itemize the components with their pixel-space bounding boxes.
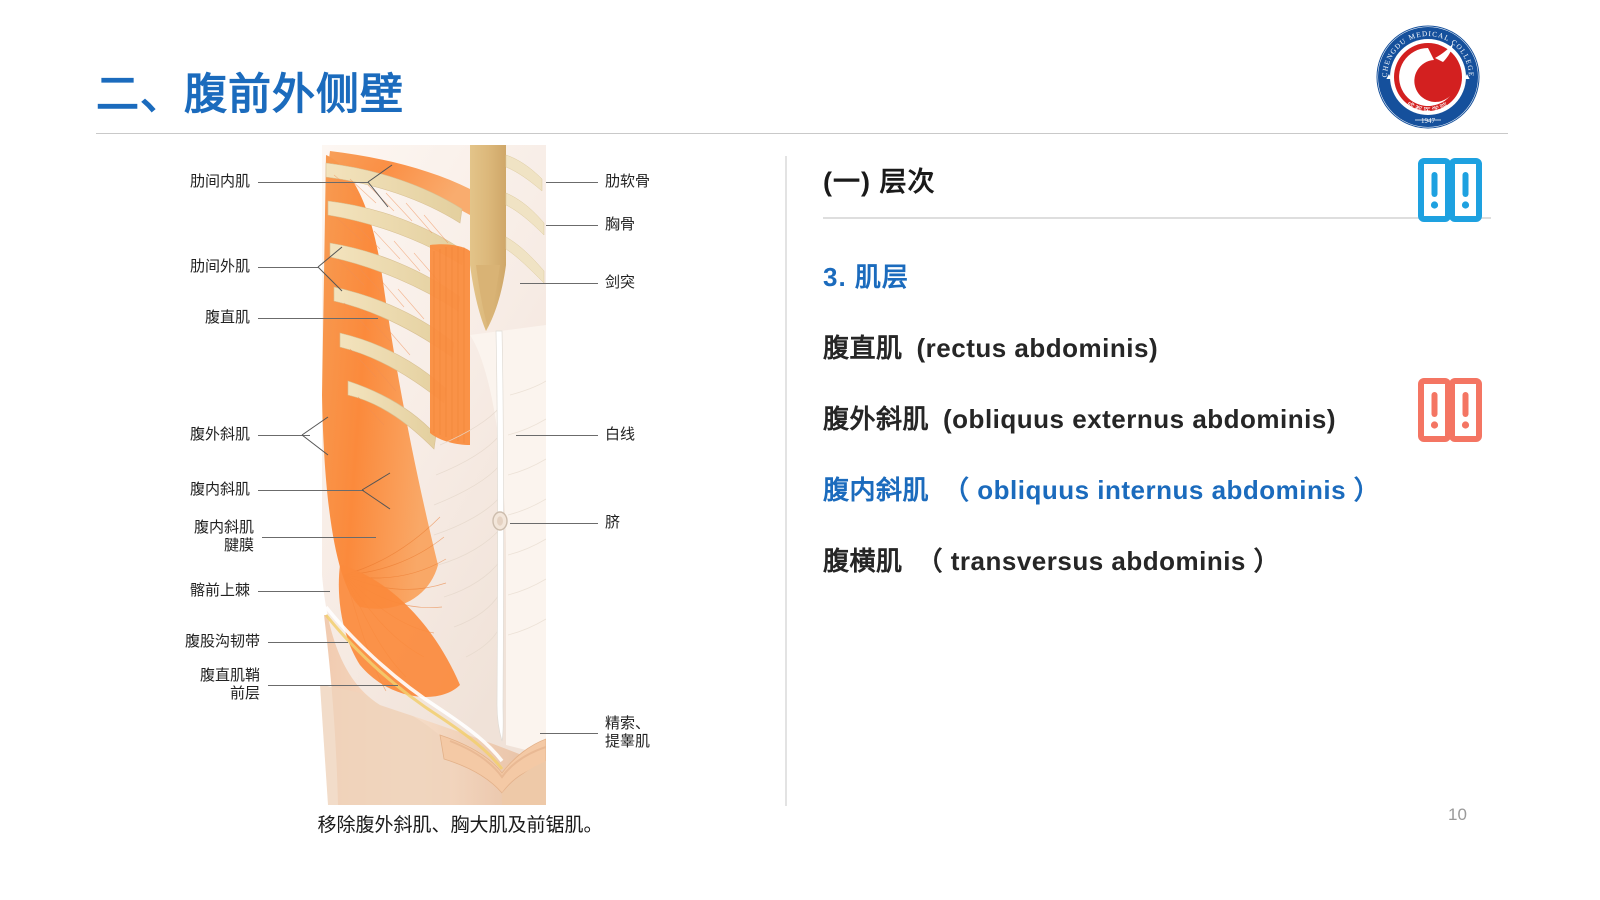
content-column: (一) 层次 3. 肌层 腹直肌(rectus abdominis) 腹外斜肌(… xyxy=(823,160,1513,578)
leader-line xyxy=(546,182,598,183)
muscle-name-latin: （ obliquus internus abdominis ） xyxy=(943,475,1380,505)
anatomy-figure: 肋间内肌 肋间外肌 腹直肌 腹外斜肌 腹内斜肌 腹内斜肌 腱膜 髂前上棘 腹股沟… xyxy=(150,145,770,845)
leader-chevrons xyxy=(250,165,390,685)
slide-canvas: 二、腹前外侧壁 CHENGDU MEDICAL COLLEGE xyxy=(0,0,1600,900)
subsection-heading: 3. 肌层 xyxy=(823,257,1513,294)
muscle-name-cn: 腹直肌 xyxy=(823,333,903,363)
leader-line xyxy=(516,435,598,436)
figure-label: 脐 xyxy=(605,513,725,531)
leader-line xyxy=(546,225,598,226)
figure-label: 腹内斜肌 xyxy=(150,480,250,498)
title-divider xyxy=(96,133,1508,134)
leader-line xyxy=(510,523,598,524)
page-title: 二、腹前外侧壁 xyxy=(96,60,404,122)
muscle-name-latin: (rectus abdominis) xyxy=(917,333,1159,363)
page-number: 10 xyxy=(1448,805,1467,825)
leader-line xyxy=(268,685,398,686)
leader-line xyxy=(540,733,598,734)
muscle-name-cn: 腹外斜肌 xyxy=(823,404,929,434)
muscle-name-cn: 腹横肌 xyxy=(823,546,903,576)
figure-label: 肋间内肌 xyxy=(150,172,250,190)
figure-label: 腹直肌 xyxy=(150,308,250,326)
double-exclamation-icon[interactable] xyxy=(1418,378,1482,442)
figure-label: 腹股沟韧带 xyxy=(150,632,260,650)
muscle-item-obliquus-internus: 腹内斜肌（ obliquus internus abdominis ） xyxy=(823,470,1513,507)
leader-line xyxy=(520,283,598,284)
figure-caption: 移除腹外斜肌、胸大肌及前锯肌。 xyxy=(150,810,770,837)
muscle-item-rectus-abdominis: 腹直肌(rectus abdominis) xyxy=(823,328,1513,365)
figure-label: 胸骨 xyxy=(605,215,725,233)
figure-label: 髂前上棘 xyxy=(150,581,250,599)
figure-label: 肋软骨 xyxy=(605,172,725,190)
figure-label: 腹内斜肌 腱膜 xyxy=(150,518,254,554)
muscle-name-cn: 腹内斜肌 xyxy=(823,475,929,505)
figure-label: 腹直肌鞘 前层 xyxy=(150,666,260,702)
muscle-name-latin: （ transversus abdominis ） xyxy=(917,546,1281,576)
muscle-item-obliquus-externus: 腹外斜肌(obliquus externus abdominis) xyxy=(823,399,1513,436)
figure-label: 腹外斜肌 xyxy=(150,425,250,443)
svg-text:1947: 1947 xyxy=(1421,117,1436,125)
double-exclamation-icon[interactable] xyxy=(1418,158,1482,222)
section-heading: (一) 层次 xyxy=(823,160,1513,199)
section-divider xyxy=(823,217,1491,219)
column-divider xyxy=(785,156,787,806)
muscle-item-transversus-abdominis: 腹横肌（ transversus abdominis ） xyxy=(823,541,1513,578)
figure-label: 剑突 xyxy=(605,273,725,291)
figure-label: 白线 xyxy=(605,425,725,443)
college-logo: CHENGDU MEDICAL COLLEGE 成都医学院 1947 xyxy=(1375,24,1481,130)
figure-label: 肋间外肌 xyxy=(150,257,250,275)
figure-label: 精索、 提睾肌 xyxy=(605,714,725,750)
muscle-name-latin: (obliquus externus abdominis) xyxy=(943,404,1336,434)
